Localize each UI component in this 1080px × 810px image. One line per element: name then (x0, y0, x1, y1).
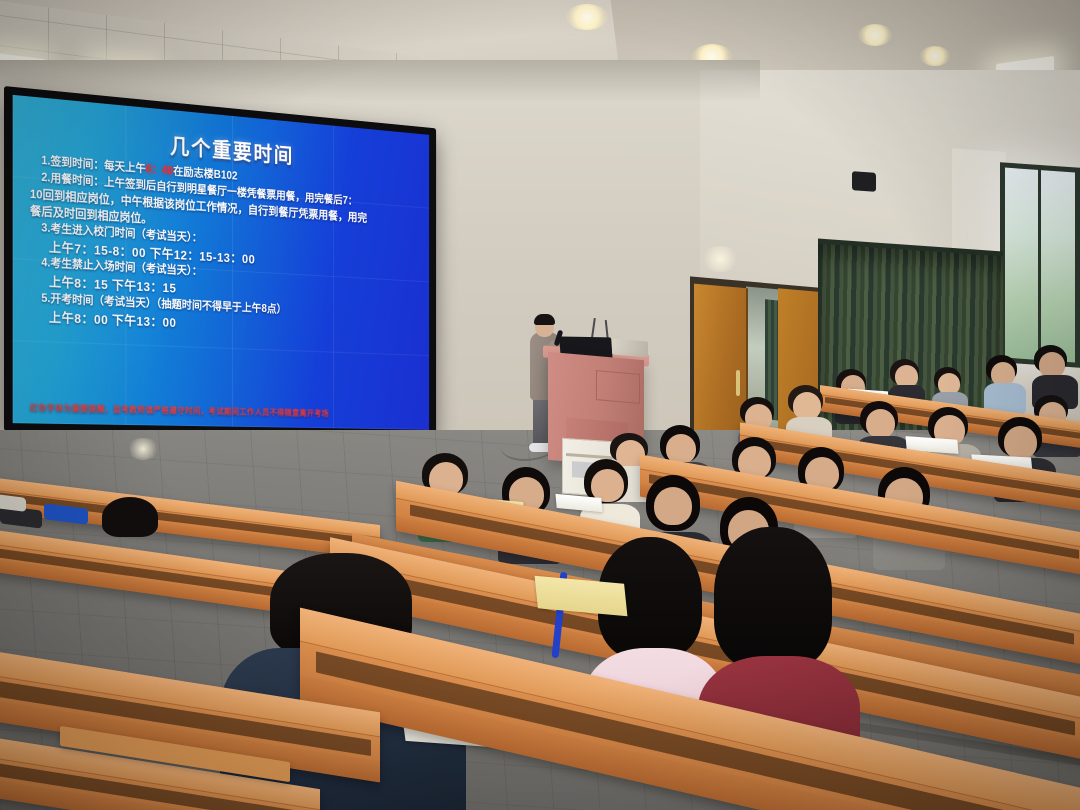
slide-line-1-post: 在励志楼B102 (173, 166, 237, 183)
head (793, 392, 821, 420)
wall-shadow (0, 60, 760, 102)
video-wall[interactable]: 几个重要时间 1.签到时间：每天上午6：40在励志楼B102 2.用餐时间：上午… (4, 86, 436, 437)
lectern-equipment (612, 338, 648, 357)
ceiling-downlight (920, 46, 950, 66)
hair (714, 527, 832, 669)
audience-member-front-maroon (716, 530, 842, 700)
slide-footer-note: 红色字体为重要提醒，监考教师请严格遵守时间，考试期间工作人员不得随意离开考场 (30, 402, 418, 421)
audience-member (988, 358, 1024, 406)
audience-member (1036, 348, 1076, 398)
presentation-slide: 几个重要时间 1.签到时间：每天上午6：40在励志楼B102 2.用餐时间：上午… (13, 95, 429, 430)
head (654, 487, 692, 525)
presenter-hair (534, 314, 555, 325)
wall-speaker (852, 171, 876, 192)
head (1004, 426, 1037, 459)
slide-line-1-highlight: 6：40 (146, 164, 173, 178)
head (866, 409, 895, 438)
ceiling-downlight (858, 24, 892, 46)
lectern-panel (596, 370, 640, 404)
door-handle[interactable] (736, 370, 740, 396)
hair (102, 497, 158, 537)
ceiling-downlight (566, 4, 608, 30)
video-wall-screen: 几个重要时间 1.签到时间：每天上午6：40在励志楼B102 2.用餐时间：上午… (13, 95, 429, 430)
bag-on-desk (0, 494, 26, 512)
window-mullion (1038, 165, 1041, 365)
lecture-hall-photo: 几个重要时间 1.签到时间：每天上午6：40在励志楼B102 2.用餐时间：上午… (0, 0, 1080, 810)
audience-member (104, 500, 164, 544)
